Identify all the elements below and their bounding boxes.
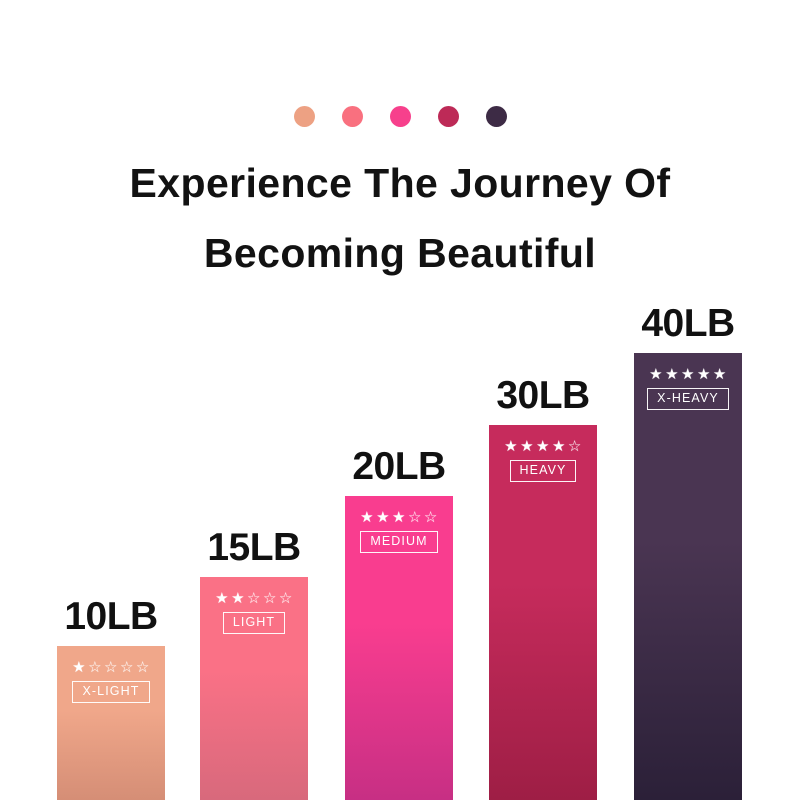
bar-15lb-content: ★★☆☆☆LIGHT [200, 591, 308, 634]
bar-40lb-content: ★★★★★X-HEAVY [634, 367, 742, 410]
star-filled-icon: ★ [231, 591, 245, 606]
star-filled-icon: ★ [504, 439, 518, 454]
bar-30lb[interactable]: 30LB★★★★☆HEAVY [489, 425, 597, 800]
bar-10lb-content: ★☆☆☆☆X-LIGHT [57, 660, 165, 703]
star-filled-icon: ★ [376, 510, 390, 525]
star-empty-icon: ☆ [120, 660, 134, 675]
bar-15lb-level-badge: LIGHT [223, 612, 285, 634]
star-empty-icon: ☆ [279, 591, 293, 606]
star-filled-icon: ★ [697, 367, 711, 382]
bar-40lb-level-badge: X-HEAVY [647, 388, 729, 410]
star-filled-icon: ★ [72, 660, 86, 675]
bar-20lb-level-badge: MEDIUM [360, 531, 437, 553]
bar-30lb-content: ★★★★☆HEAVY [489, 439, 597, 482]
star-filled-icon: ★ [520, 439, 534, 454]
star-filled-icon: ★ [649, 367, 663, 382]
bar-10lb[interactable]: 10LB★☆☆☆☆X-LIGHT [57, 646, 165, 800]
star-filled-icon: ★ [552, 439, 566, 454]
star-empty-icon: ☆ [568, 439, 582, 454]
bar-20lb-star-rating: ★★★☆☆ [360, 510, 438, 525]
star-filled-icon: ★ [713, 367, 727, 382]
star-empty-icon: ☆ [263, 591, 277, 606]
bar-20lb-column: ★★★☆☆MEDIUM [345, 496, 453, 800]
infographic-root: Experience The Journey Of Becoming Beaut… [0, 0, 800, 800]
resistance-bar-chart: 10LB★☆☆☆☆X-LIGHT15LB★★☆☆☆LIGHT20LB★★★☆☆M… [0, 0, 800, 800]
star-filled-icon: ★ [536, 439, 550, 454]
bar-10lb-value-label: 10LB [57, 597, 165, 636]
star-filled-icon: ★ [360, 510, 374, 525]
bar-40lb-star-rating: ★★★★★ [649, 367, 727, 382]
bar-20lb-content: ★★★☆☆MEDIUM [345, 510, 453, 553]
star-filled-icon: ★ [215, 591, 229, 606]
bar-15lb-star-rating: ★★☆☆☆ [215, 591, 293, 606]
star-empty-icon: ☆ [104, 660, 118, 675]
bar-20lb-value-label: 20LB [345, 447, 453, 486]
star-filled-icon: ★ [392, 510, 406, 525]
star-empty-icon: ☆ [408, 510, 422, 525]
bar-10lb-level-badge: X-LIGHT [72, 681, 149, 703]
bar-15lb-column: ★★☆☆☆LIGHT [200, 577, 308, 800]
bar-15lb-value-label: 15LB [200, 528, 308, 567]
star-empty-icon: ☆ [88, 660, 102, 675]
bar-20lb[interactable]: 20LB★★★☆☆MEDIUM [345, 496, 453, 800]
bar-30lb-star-rating: ★★★★☆ [504, 439, 582, 454]
star-filled-icon: ★ [665, 367, 679, 382]
star-filled-icon: ★ [681, 367, 695, 382]
bar-10lb-star-rating: ★☆☆☆☆ [72, 660, 150, 675]
star-empty-icon: ☆ [424, 510, 438, 525]
star-empty-icon: ☆ [247, 591, 261, 606]
star-empty-icon: ☆ [136, 660, 150, 675]
bar-30lb-level-badge: HEAVY [510, 460, 577, 482]
bar-10lb-column: ★☆☆☆☆X-LIGHT [57, 646, 165, 800]
bar-15lb[interactable]: 15LB★★☆☆☆LIGHT [200, 577, 308, 800]
bar-40lb-column: ★★★★★X-HEAVY [634, 353, 742, 800]
bar-40lb[interactable]: 40LB★★★★★X-HEAVY [634, 353, 742, 800]
bar-40lb-value-label: 40LB [634, 304, 742, 343]
bar-30lb-column: ★★★★☆HEAVY [489, 425, 597, 800]
bar-30lb-value-label: 30LB [489, 376, 597, 415]
